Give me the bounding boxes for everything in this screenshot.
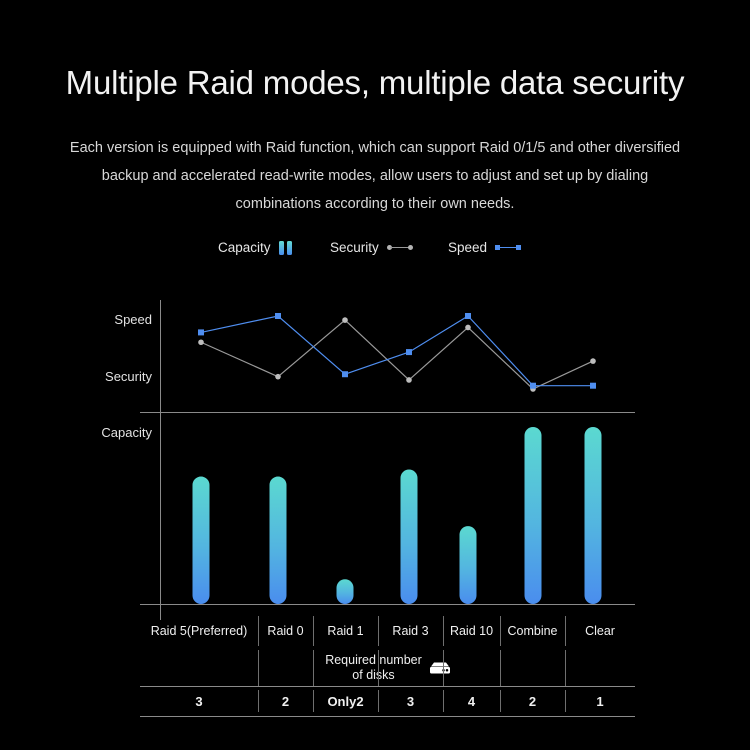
table-column-divider [378,650,379,686]
security-point [198,339,204,345]
legend-label-security: Security [330,240,379,255]
table-cell-disk-count: 3 [378,686,443,716]
page-subtitle: Each version is equipped with Raid funct… [60,134,690,218]
capacity-bar [193,477,210,604]
legend-label-speed: Speed [448,240,487,255]
axis-label-speed: Speed [114,312,152,327]
table-cell-disk-count: 2 [258,686,313,716]
speed-line [198,313,596,389]
speed-polyline [201,316,593,386]
speed-point [465,313,471,319]
security-point [465,325,471,331]
capacity-bar [337,579,354,604]
table-cell-mode-name: Raid 0 [258,612,313,650]
axis-label-speed-box: Speed [60,312,152,328]
capacity-bars [193,427,602,604]
table-cell-mode-name: Raid 5(Preferred) [140,612,258,650]
chart-legend: Capacity Security Speed [160,240,580,264]
page-title: Multiple Raid modes, multiple data secur… [0,64,750,102]
table-column-divider [565,650,566,686]
table-cell-disk-count: 4 [443,686,500,716]
table-cell-mode-name: Raid 10 [443,612,500,650]
capacity-bar [401,469,418,604]
speed-point [342,371,348,377]
table-column-divider [313,650,314,686]
table-cell-disk-count: Only2 [313,686,378,716]
legend-item-speed: Speed [448,240,521,255]
capacity-bar [525,427,542,604]
raid-modes-table: Raid 5(Preferred)Raid 0Raid 1Raid 3Raid … [140,612,635,708]
table-cell-disk-count: 2 [500,686,565,716]
table-hline-bottom [140,716,635,717]
bars-marker-icon [279,241,292,255]
table-row-disk-counts: 32Only23421 [140,686,635,716]
capacity-bar [460,526,477,604]
gray-line-marker-icon [387,244,413,252]
security-point [406,377,412,383]
legend-item-security: Security [330,240,413,255]
speed-point [198,329,204,335]
speed-point [275,313,281,319]
legend-item-capacity: Capacity [218,240,292,255]
table-cell-mode-name: Raid 3 [378,612,443,650]
speed-point [590,383,596,389]
legend-label-capacity: Capacity [218,240,271,255]
disk-enclosure-icon [429,661,451,675]
security-polyline [201,320,593,389]
table-column-divider [500,650,501,686]
capacity-bar [585,427,602,604]
table-column-divider [443,650,444,686]
axis-label-capacity: Capacity [101,425,152,440]
table-cell-disk-count: 1 [565,686,635,716]
table-cell-mode-name: Clear [565,612,635,650]
table-row-mode-names: Raid 5(Preferred)Raid 0Raid 1Raid 3Raid … [140,612,635,650]
security-point [530,386,536,392]
capacity-bar [270,477,287,604]
axis-label-capacity-box: Capacity [60,425,152,441]
table-hline [140,686,635,687]
security-line [198,317,596,391]
required-disks-label: Required number of disks [313,650,463,686]
raid-modes-infographic: Multiple Raid modes, multiple data secur… [0,0,750,750]
speed-point [530,383,536,389]
table-cell-mode-name: Raid 1 [313,612,378,650]
blue-line-marker-icon [495,244,521,252]
table-column-divider [258,650,259,686]
axis-label-security: Security [105,369,152,384]
security-point [590,358,596,364]
security-point [342,317,348,323]
table-cell-disk-count: 3 [140,686,258,716]
required-disks-text: Required number of disks [325,653,422,683]
security-point [275,374,281,380]
axis-label-security-box: Security [60,369,152,385]
speed-point [406,349,412,355]
table-cell-mode-name: Combine [500,612,565,650]
